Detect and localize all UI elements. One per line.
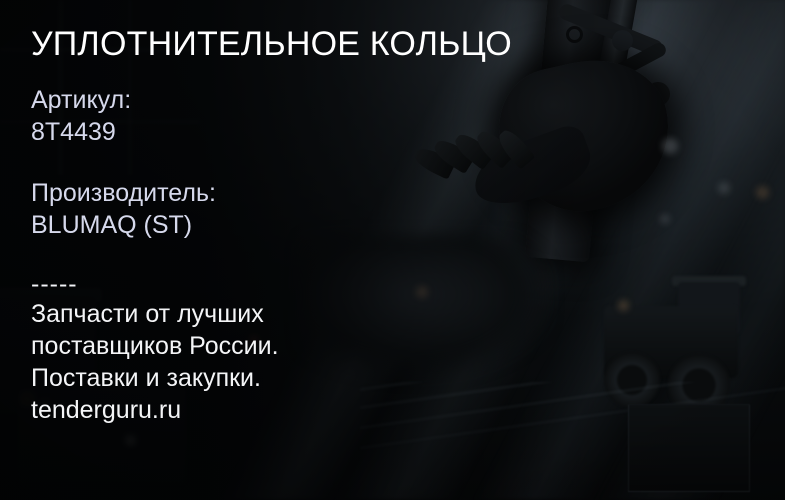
promo-block: ----- Запчасти от лучших поставщиков Рос… [31,270,279,426]
tractor-body [604,306,738,378]
bokeh-light-1 [662,138,678,154]
bokeh-light-2 [718,182,730,194]
excavator-linkage-lower [586,41,669,94]
manufacturer-value: BLUMAQ (ST) [31,209,216,241]
bokeh-light-3 [756,186,769,199]
tractor-cab [678,282,740,334]
mesh-crate-silhouette [628,404,750,492]
product-title: УПЛОТНИТЕЛЬНОЕ КОЛЬЦО [31,24,512,64]
promo-line-3: Поставки и закупки. [31,362,279,394]
promo-separator: ----- [31,270,279,298]
bokeh-light-6 [618,300,629,311]
tractor-rear-wheel [668,354,730,416]
promo-line-1: Запчасти от лучших [31,298,279,330]
promo-site-url: tenderguru.ru [31,394,279,426]
bokeh-light-4 [660,214,670,224]
tractor-front-wheel [604,352,660,408]
excavator-pin-a [566,26,583,43]
article-label: Артикул: [31,84,131,116]
tractor-roof [672,276,746,286]
excavator-pin-b [612,30,633,51]
promo-line-2: поставщиков России. [31,330,279,362]
manufacturer-block: Производитель: BLUMAQ (ST) [31,177,216,241]
article-value: 8T4439 [31,116,131,148]
card-content: УПЛОТНИТЕЛЬНОЕ КОЛЬЦО Артикул: 8T4439 Пр… [31,0,551,500]
article-block: Артикул: 8T4439 [31,84,131,148]
manufacturer-label: Производитель: [31,177,216,209]
excavator-stick-silhouette [580,0,639,181]
product-banner-card: УПЛОТНИТЕЛЬНОЕ КОЛЬЦО Артикул: 8T4439 Пр… [0,0,785,500]
excavator-pin-d [646,82,670,106]
excavator-pin-c [606,84,625,103]
excavator-linkage-upper [557,2,665,58]
